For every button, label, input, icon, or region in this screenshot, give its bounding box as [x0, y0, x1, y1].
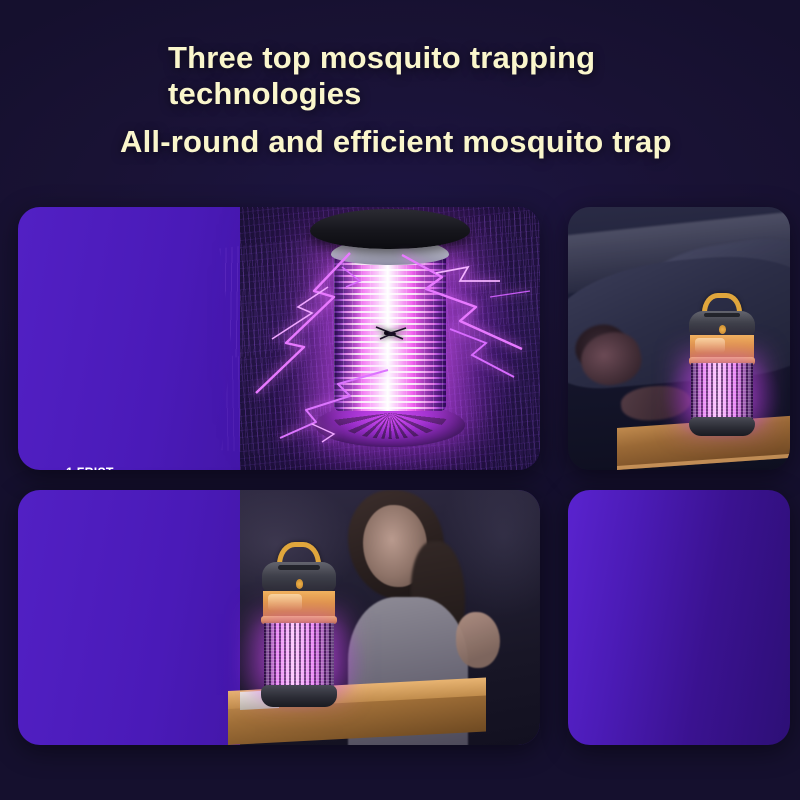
sleeper-arm [620, 382, 693, 423]
card-2-photo-bedroom [568, 207, 790, 470]
card-1-tag: 1.FRIST [66, 464, 114, 470]
lightning-bolt-right-icon [390, 237, 540, 397]
feature-card-sleeping-scene[interactable] [568, 207, 790, 470]
headline-line-3: All-round and efficient mosquito trap [120, 124, 672, 160]
woman-hand [456, 612, 500, 668]
lantern-tube-mesh [691, 363, 753, 418]
lantern-uv-tube [691, 363, 753, 418]
lantern-power-button-icon [719, 325, 726, 334]
lantern-gold-highlight [268, 594, 302, 611]
card-1-photo-zapper-lightning [240, 207, 540, 470]
lantern-uv-tube [264, 623, 335, 687]
lantern-gold-highlight [695, 338, 725, 353]
product-lantern-card-2 [684, 293, 760, 439]
poster-canvas: Three top mosquito trapping technologies… [0, 0, 800, 800]
mosquito-icon [374, 325, 408, 341]
lightning-bolt-lower-icon [276, 366, 396, 456]
lantern-cap-slot [704, 313, 740, 317]
headline-line-1: Three top mosquito trapping [168, 40, 595, 76]
lantern-tube-mesh [264, 623, 335, 687]
lantern-foot [689, 417, 756, 436]
card-3-photo-woman-with-lantern [240, 490, 540, 745]
lantern-cap-slot [278, 565, 319, 570]
feature-card-3000v-voltage[interactable]: 1.FRIST 3000v instantaneous voltage Kill… [18, 490, 540, 745]
headline-line-2: technologies [168, 76, 362, 112]
lantern-foot [261, 685, 337, 707]
feature-card-silent-killer[interactable]: 1.FRIST The whole process is as low as 2… [568, 490, 790, 745]
product-lantern-card-3 [256, 542, 342, 710]
feature-card-professional-trap[interactable]: 1.FRIST Professional mosquito trap No fe… [18, 207, 540, 470]
card-4-gradient-panel [568, 490, 790, 745]
